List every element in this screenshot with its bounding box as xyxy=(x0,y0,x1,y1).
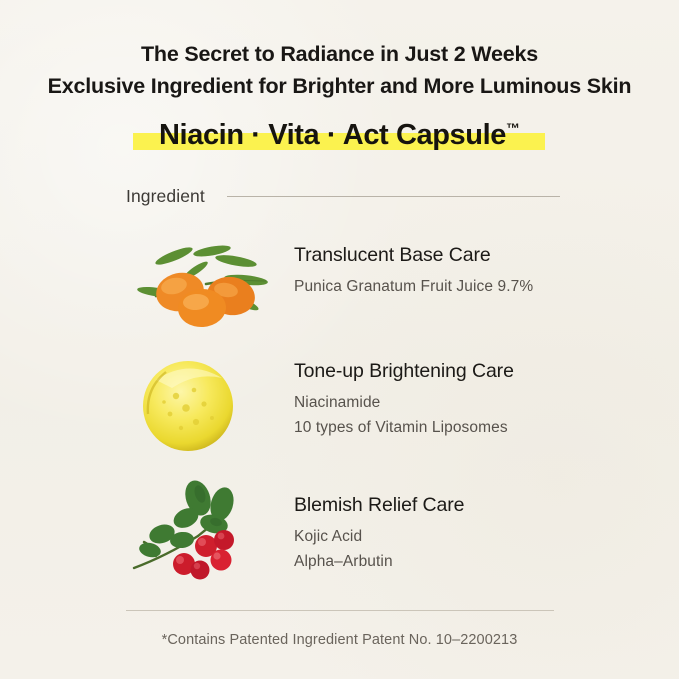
section-divider-line xyxy=(227,196,560,197)
yellow-oil-droplet-image xyxy=(126,352,276,460)
ingredient-title: Tone-up Brightening Care xyxy=(294,358,514,384)
headline-line-1: The Secret to Radiance in Just 2 Weeks xyxy=(0,38,679,70)
ingredient-text: Tone-up Brightening Care Niacinamide 10 … xyxy=(276,352,514,440)
brand-name-block: Niacin · Vita · Act Capsule™ xyxy=(0,108,679,152)
trademark-icon: ™ xyxy=(506,120,520,136)
ingredient-detail: Kojic Acid xyxy=(294,524,464,549)
lingonberry-sprig-image xyxy=(126,478,276,586)
ingredient-title: Translucent Base Care xyxy=(294,242,533,268)
sea-buckthorn-berries-image xyxy=(126,234,276,342)
patent-note: *Contains Patented Ingredient Patent No.… xyxy=(0,632,679,648)
ingredient-text: Translucent Base Care Punica Granatum Fr… xyxy=(276,234,533,299)
headline-block: The Secret to Radiance in Just 2 Weeks E… xyxy=(0,38,679,102)
ingredient-section-header: Ingredient xyxy=(126,186,560,207)
ingredient-title: Blemish Relief Care xyxy=(294,492,464,518)
ingredient-detail: Niacinamide xyxy=(294,390,514,415)
brand-name-text: Niacin · Vita · Act Capsule xyxy=(159,119,506,151)
ingredient-detail: 10 types of Vitamin Liposomes xyxy=(294,415,514,440)
brand-name: Niacin · Vita · Act Capsule™ xyxy=(159,108,520,155)
product-ingredient-infographic: The Secret to Radiance in Just 2 Weeks E… xyxy=(0,0,679,679)
footer-divider-line xyxy=(126,610,554,611)
ingredient-detail: Punica Granatum Fruit Juice 9.7% xyxy=(294,274,533,299)
ingredient-row: Blemish Relief Care Kojic Acid Alpha–Arb… xyxy=(126,478,566,586)
section-title: Ingredient xyxy=(126,186,227,207)
ingredient-row: Tone-up Brightening Care Niacinamide 10 … xyxy=(126,352,566,460)
ingredient-detail: Alpha–Arbutin xyxy=(294,549,464,574)
headline-line-2: Exclusive Ingredient for Brighter and Mo… xyxy=(0,70,679,102)
ingredient-row: Translucent Base Care Punica Granatum Fr… xyxy=(126,234,566,342)
ingredient-text: Blemish Relief Care Kojic Acid Alpha–Arb… xyxy=(276,478,464,574)
